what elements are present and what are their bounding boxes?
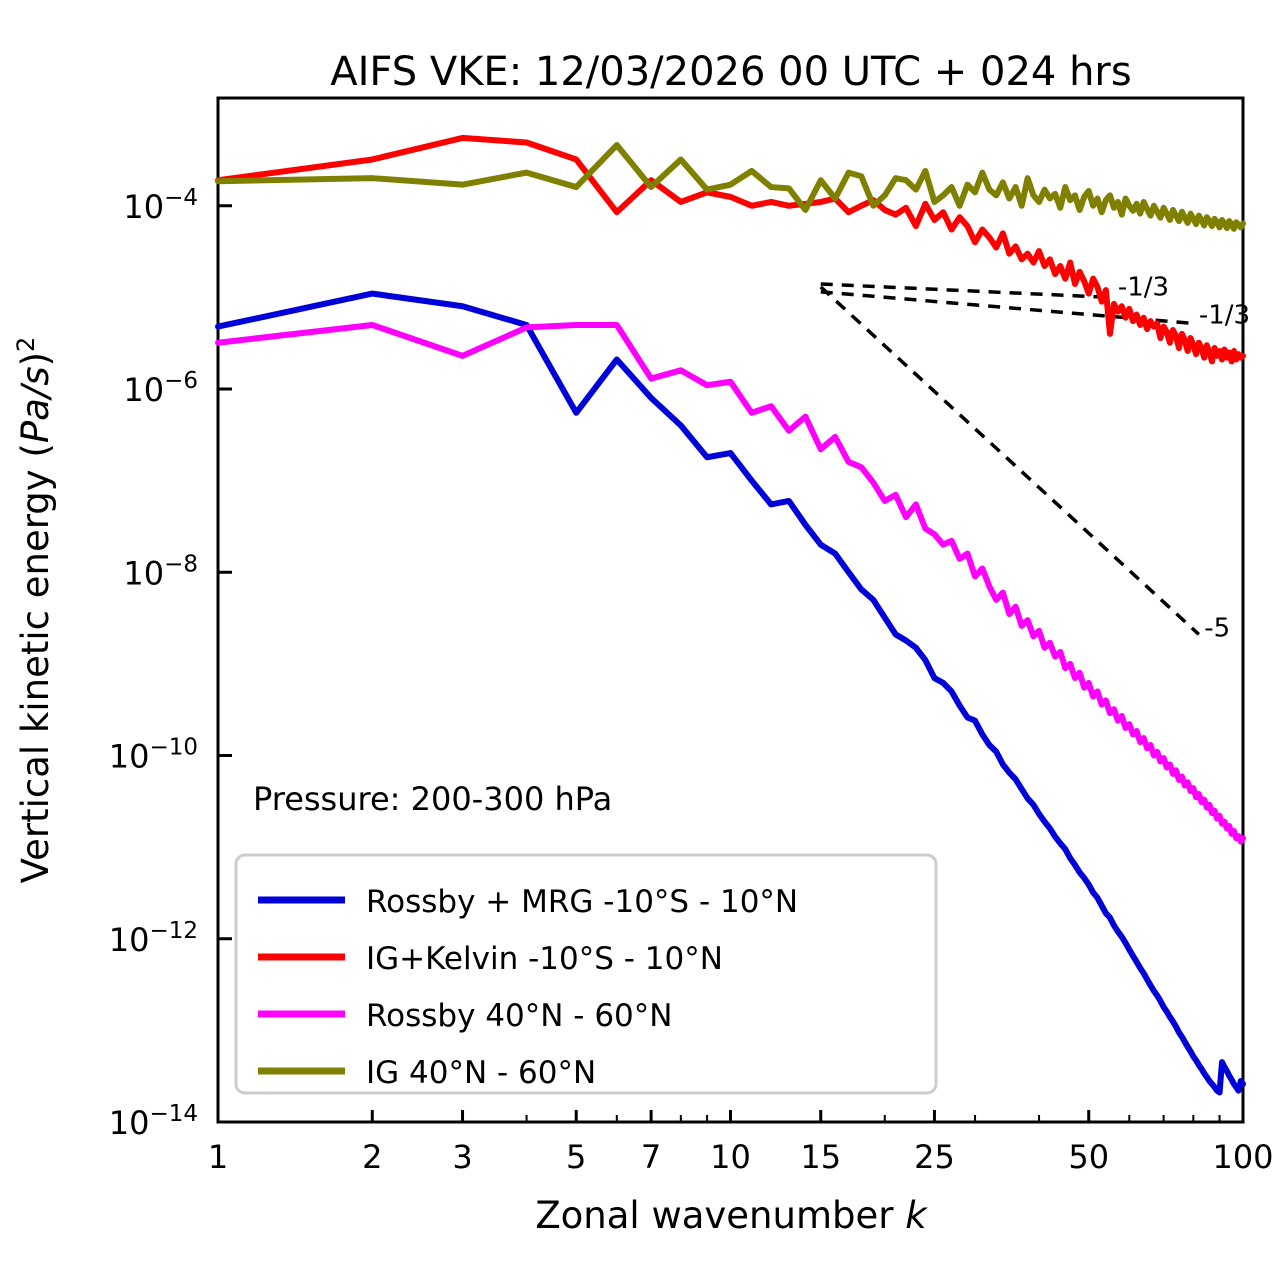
x-tick-label: 2: [362, 1138, 382, 1176]
x-tick-label: 100: [1212, 1138, 1273, 1176]
legend-label: IG+Kelvin -10°S - 10°N: [366, 941, 723, 977]
slope-label-upper: -1/3: [1118, 272, 1169, 302]
x-tick-label: 3: [452, 1138, 472, 1176]
x-tick-label: 15: [800, 1138, 841, 1176]
legend-label: Rossby + MRG -10°S - 10°N: [366, 884, 798, 920]
slope-label-lower: -1/3: [1199, 300, 1250, 330]
x-tick-label: 25: [914, 1138, 955, 1176]
x-tick-label: 7: [641, 1138, 661, 1176]
x-tick-label: 10: [710, 1138, 751, 1176]
chart-title: AIFS VKE: 12/03/2026 00 UTC + 024 hrs: [330, 49, 1131, 95]
x-axis-label: Zonal wavenumber k: [535, 1194, 928, 1237]
y-axis-label: Vertical kinetic energy (Pa/s)2: [12, 337, 57, 884]
x-tick-label: 50: [1068, 1138, 1109, 1176]
x-tick-label: 1: [208, 1138, 228, 1176]
vke-spectrum-chart: AIFS VKE: 12/03/2026 00 UTC + 024 hrs 12…: [0, 0, 1280, 1288]
slope-label-minus5: -5: [1204, 613, 1230, 643]
pressure-annotation: Pressure: 200-300 hPa: [253, 780, 612, 818]
legend-label: IG 40°N - 60°N: [366, 1055, 596, 1091]
legend-label: Rossby 40°N - 60°N: [366, 998, 672, 1034]
x-tick-label: 5: [566, 1138, 586, 1176]
chart-legend: Rossby + MRG -10°S - 10°NIG+Kelvin -10°S…: [236, 855, 936, 1093]
chart-figure: AIFS VKE: 12/03/2026 00 UTC + 024 hrs 12…: [0, 0, 1280, 1288]
